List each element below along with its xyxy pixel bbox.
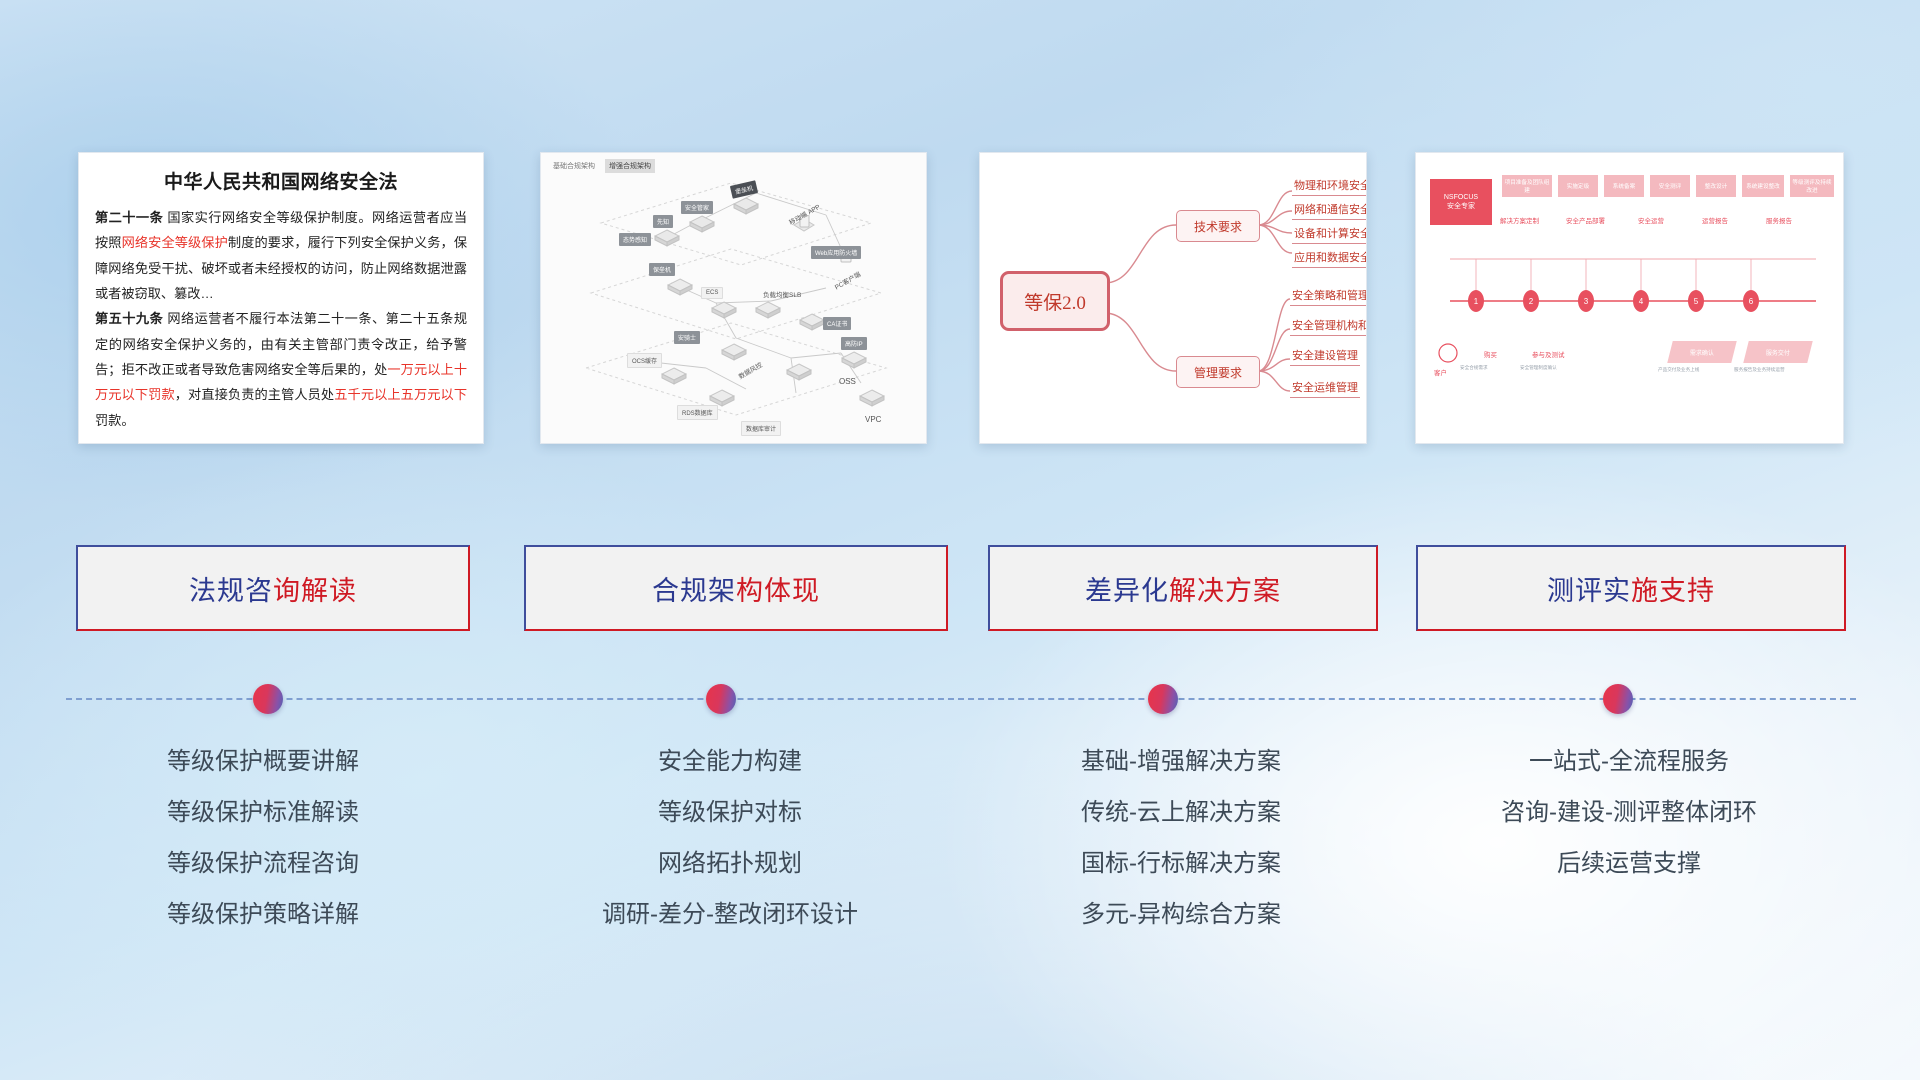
law-title: 中华人民共和国网络安全法 <box>95 167 467 194</box>
article-21-highlight: 网络安全等级保护 <box>122 235 228 250</box>
list-item: 安全能力构建 <box>520 736 940 787</box>
nsfocus-tag: 参与及测试 <box>1532 349 1565 359</box>
server-cube-icon <box>733 197 759 215</box>
timeline-dot-4[interactable] <box>1603 684 1633 714</box>
list-item: 后续运营支撑 <box>1416 838 1842 889</box>
mindmap-leaf: 网络和通信安全 <box>1292 201 1367 220</box>
server-cube-icon <box>799 313 825 331</box>
timeline-dot-3[interactable] <box>1148 684 1178 714</box>
list-item: 等级保护流程咨询 <box>68 838 458 889</box>
nsfocus-tag: 购买 <box>1484 349 1497 359</box>
server-cube-icon <box>667 278 693 296</box>
detail-column-4: 一站式-全流程服务 咨询-建设-测评整体闭环 后续运营支撑 <box>1416 736 1842 889</box>
article-59-text-c: 罚款。 <box>95 413 135 428</box>
mindmap-leaf: 应用和数据安全 <box>1292 249 1367 268</box>
mindmap-root: 等保2.0 <box>1000 271 1110 331</box>
banner-label-blue: 法规咨 <box>189 569 273 608</box>
nsfocus-subtitle: 解决方案定制 <box>1500 215 1539 225</box>
banner-differentiated-solution[interactable]: 差异化解决方案 <box>988 545 1378 631</box>
timeline-dot-2[interactable] <box>706 684 736 714</box>
list-item: 基础-增强解决方案 <box>986 736 1376 787</box>
nsfocus-badge-line2: 安全专家 <box>1447 202 1475 211</box>
nsfocus-step-number: 3 <box>1578 290 1594 312</box>
nsfocus-step-number: 6 <box>1743 290 1759 312</box>
timeline-dot-1[interactable] <box>253 684 283 714</box>
banner-label-red: 构体现 <box>736 569 820 608</box>
card-nsfocus-service-flow[interactable]: NSFOCUS 安全专家 项目准备及团队组建 实施定级 系统备案 安全测评 整改… <box>1415 152 1844 444</box>
banner-label-blue: 测评实 <box>1547 569 1631 608</box>
architecture-diagram: 基础合规架构 增强合规架构 <box>541 153 926 443</box>
mindmap-branch-management: 管理要求 <box>1176 356 1260 388</box>
banner-label-red: 询解读 <box>273 569 357 608</box>
list-item: 等级保护概要讲解 <box>68 736 458 787</box>
nsfocus-tag: 需求确认 <box>1690 348 1714 357</box>
banner-row: 法规咨询解读 合规架构体现 差异化解决方案 测评实施支持 <box>0 545 1920 635</box>
nsfocus-phase-header: 项目准备及团队组建 <box>1502 175 1552 197</box>
node-chip: 态势感知 <box>619 233 651 246</box>
nsfocus-subtitle: 安全运营 <box>1638 215 1664 225</box>
mindmap-leaf: 安全运维管理 <box>1290 379 1360 398</box>
list-item: 多元-异构综合方案 <box>986 889 1376 940</box>
node-chip: CA证书 <box>823 317 851 330</box>
nsfocus-expert-badge: NSFOCUS 安全专家 <box>1430 179 1492 225</box>
nsfocus-step-number: 5 <box>1688 290 1704 312</box>
mindmap-leaf: 设备和计算安全 <box>1292 225 1367 244</box>
article-21-label: 第二十一条 <box>95 210 163 225</box>
banner-evaluation-support[interactable]: 测评实施支持 <box>1416 545 1846 631</box>
list-item: 等级保护对标 <box>520 787 940 838</box>
article-59-text-b: ，对直接负责的主管人员处 <box>175 387 334 402</box>
timeline <box>0 664 1920 724</box>
server-cube-icon <box>661 367 687 385</box>
mindmap-leaf: 安全策略和管理制度 <box>1290 287 1367 306</box>
list-item: 咨询-建设-测评整体闭环 <box>1416 787 1842 838</box>
banner-compliance-architecture[interactable]: 合规架构体现 <box>524 545 948 631</box>
node-label: VPC <box>865 415 881 424</box>
nsfocus-tag-shape: 需求确认 <box>1667 341 1736 363</box>
nsfocus-tag-note: 安全合规需求 <box>1460 365 1488 371</box>
server-cube-icon <box>654 229 680 247</box>
server-cube-icon <box>786 363 812 381</box>
banner-regulation-consulting[interactable]: 法规咨询解读 <box>76 545 470 631</box>
article-59-label: 第五十九条 <box>95 311 163 326</box>
mindmap-branch-technical: 技术要求 <box>1176 210 1260 242</box>
nsfocus-phase-header: 等级测评及持续改进 <box>1790 175 1834 197</box>
node-chip: 安全管家 <box>681 201 713 214</box>
node-chip: Web应用防火墙 <box>811 246 861 259</box>
node-chip: ECS <box>701 287 723 299</box>
slide-stage: 中华人民共和国网络安全法 第二十一条 国家实行网络安全等级保护制度。网络运营者应… <box>0 0 1920 1080</box>
list-item: 国标-行标解决方案 <box>986 838 1376 889</box>
mindmap-leaf: 物理和环境安全 <box>1292 177 1367 196</box>
node-chip: OCS缓存 <box>627 353 662 368</box>
node-chip: 先知 <box>653 215 673 228</box>
banner-label-red: 解决方案 <box>1169 569 1281 608</box>
nsfocus-phase-header: 安全测评 <box>1650 175 1690 197</box>
nsfocus-tag-note: 服务报告及业务持续运营 <box>1734 367 1785 373</box>
nsfocus-tag-note: 产品交付及业务上线 <box>1658 367 1699 373</box>
law-article-21: 第二十一条 国家实行网络安全等级保护制度。网络运营者应当按照网络安全等级保护制度… <box>95 205 467 306</box>
nsfocus-subtitle: 服务报告 <box>1766 215 1792 225</box>
nsfocus-tag-note: 安全管理制度确认 <box>1520 365 1557 371</box>
mindmap-leaf: 安全建设管理 <box>1290 347 1360 366</box>
detail-column-2: 安全能力构建 等级保护对标 网络拓扑规划 调研-差分-整改闭环设计 <box>520 736 940 940</box>
nsfocus-customer-label: 客户 <box>1434 367 1447 377</box>
nsfocus-flow: NSFOCUS 安全专家 项目准备及团队组建 实施定级 系统备案 安全测评 整改… <box>1416 153 1843 443</box>
list-item: 一站式-全流程服务 <box>1416 736 1842 787</box>
law-article-59: 第五十九条 网络运营者不履行本法第二十一条、第二十五条规定的网络安全保护义务的，… <box>95 306 467 433</box>
list-item: 网络拓扑规划 <box>520 838 940 889</box>
node-label: OSS <box>839 377 856 386</box>
node-chip: RDS数据库 <box>677 405 718 420</box>
screenshot-card-row: 中华人民共和国网络安全法 第二十一条 国家实行网络安全等级保护制度。网络运营者应… <box>0 0 1920 430</box>
nsfocus-step-number: 1 <box>1468 290 1484 312</box>
nsfocus-phase-header: 系统备案 <box>1604 175 1644 197</box>
detail-column-1: 等级保护概要讲解 等级保护标准解读 等级保护流程咨询 等级保护策略详解 <box>68 736 458 940</box>
nsfocus-step-number: 2 <box>1523 290 1539 312</box>
nsfocus-tag-shape: 服务交付 <box>1743 341 1812 363</box>
nsfocus-subtitle: 运营报告 <box>1702 215 1728 225</box>
server-cube-icon <box>689 215 715 233</box>
node-chip: 数据库审计 <box>741 421 781 436</box>
detail-column-3: 基础-增强解决方案 传统-云上解决方案 国标-行标解决方案 多元-异构综合方案 <box>986 736 1376 940</box>
banner-label-blue: 差异化 <box>1085 569 1169 608</box>
detail-list-row: 等级保护概要讲解 等级保护标准解读 等级保护流程咨询 等级保护策略详解 安全能力… <box>0 736 1920 996</box>
timeline-dashed-line <box>66 698 1856 700</box>
server-cube-icon <box>755 301 781 319</box>
nsfocus-tag: 服务交付 <box>1766 348 1790 357</box>
server-cube-icon <box>841 351 867 369</box>
nsfocus-phase-header: 实施定级 <box>1558 175 1598 197</box>
banner-label-blue: 合规架 <box>652 569 736 608</box>
nsfocus-badge-line1: NSFOCUS <box>1444 193 1478 202</box>
nsfocus-subtitle: 安全产品部署 <box>1566 215 1605 225</box>
card-cybersecurity-law[interactable]: 中华人民共和国网络安全法 第二十一条 国家实行网络安全等级保护制度。网络运营者应… <box>78 152 484 444</box>
list-item: 传统-云上解决方案 <box>986 787 1376 838</box>
node-chip: 保垒机 <box>649 263 675 276</box>
list-item: 等级保护标准解读 <box>68 787 458 838</box>
mindmap: 等保2.0 技术要求 物理和环境安全 网络和通信安全 设备和计算安全 应用和数据… <box>980 153 1366 443</box>
vpc-cube-icon <box>859 389 885 407</box>
article-59-highlight-2: 五千元以上五万元以下 <box>334 387 467 402</box>
nsfocus-phase-header: 整改设计 <box>1696 175 1736 197</box>
list-item: 等级保护策略详解 <box>68 889 458 940</box>
node-label: 负载均衡SLB <box>763 289 801 299</box>
card-mindmap-dengbao[interactable]: 等保2.0 技术要求 物理和环境安全 网络和通信安全 设备和计算安全 应用和数据… <box>979 152 1367 444</box>
list-item: 调研-差分-整改闭环设计 <box>520 889 940 940</box>
server-cube-icon <box>721 343 747 361</box>
banner-label-red: 施支持 <box>1631 569 1715 608</box>
node-chip: 安骑士 <box>674 331 700 344</box>
server-cube-icon <box>711 301 737 319</box>
law-document: 中华人民共和国网络安全法 第二十一条 国家实行网络安全等级保护制度。网络运营者应… <box>79 153 483 443</box>
nsfocus-step-number: 4 <box>1633 290 1649 312</box>
node-chip: 高防IP <box>841 337 867 350</box>
nsfocus-phase-header: 系统建设整改 <box>1742 175 1784 197</box>
card-compliance-architecture[interactable]: 基础合规架构 增强合规架构 <box>540 152 927 444</box>
mindmap-leaf: 安全管理机构和人员 <box>1290 317 1367 336</box>
